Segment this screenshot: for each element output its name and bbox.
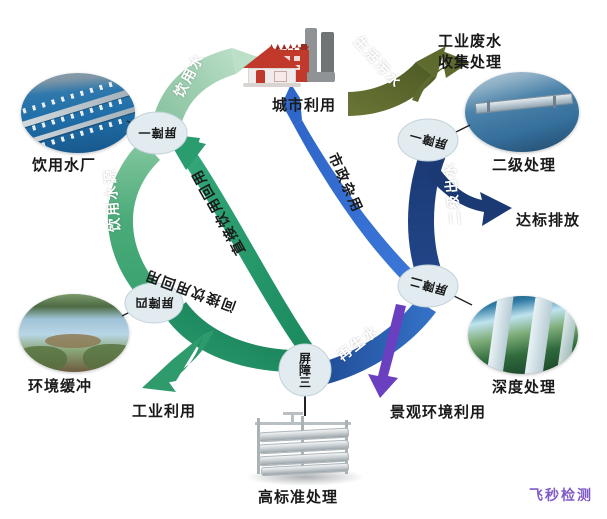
barrier-nodes-layer [0, 0, 607, 519]
node-label-barrier-4-left: 屏障四 [134, 295, 173, 312]
endpoint-label-urban-use: 城市利用 [272, 97, 336, 116]
endpoint-label-compliant-discharge: 达标排放 [516, 212, 580, 231]
node-label-barrier-1-left: 屏障一 [137, 125, 176, 142]
endpoint-label-industrial-wastewater-line1: 工业废水 [438, 33, 502, 52]
diagram-canvas: 饮用水厂 环境缓冲 二级处理 深度处理 [0, 0, 607, 519]
endpoint-label-industrial-wastewater-line2: 收集处理 [438, 54, 502, 73]
node-label-barrier-3-bottom: 屏障三 [297, 352, 314, 388]
endpoint-label-industrial-use: 工业利用 [132, 403, 196, 422]
endpoint-label-landscape-use: 景观环境利用 [390, 404, 486, 423]
watermark: 飞秒检测 [529, 485, 593, 505]
